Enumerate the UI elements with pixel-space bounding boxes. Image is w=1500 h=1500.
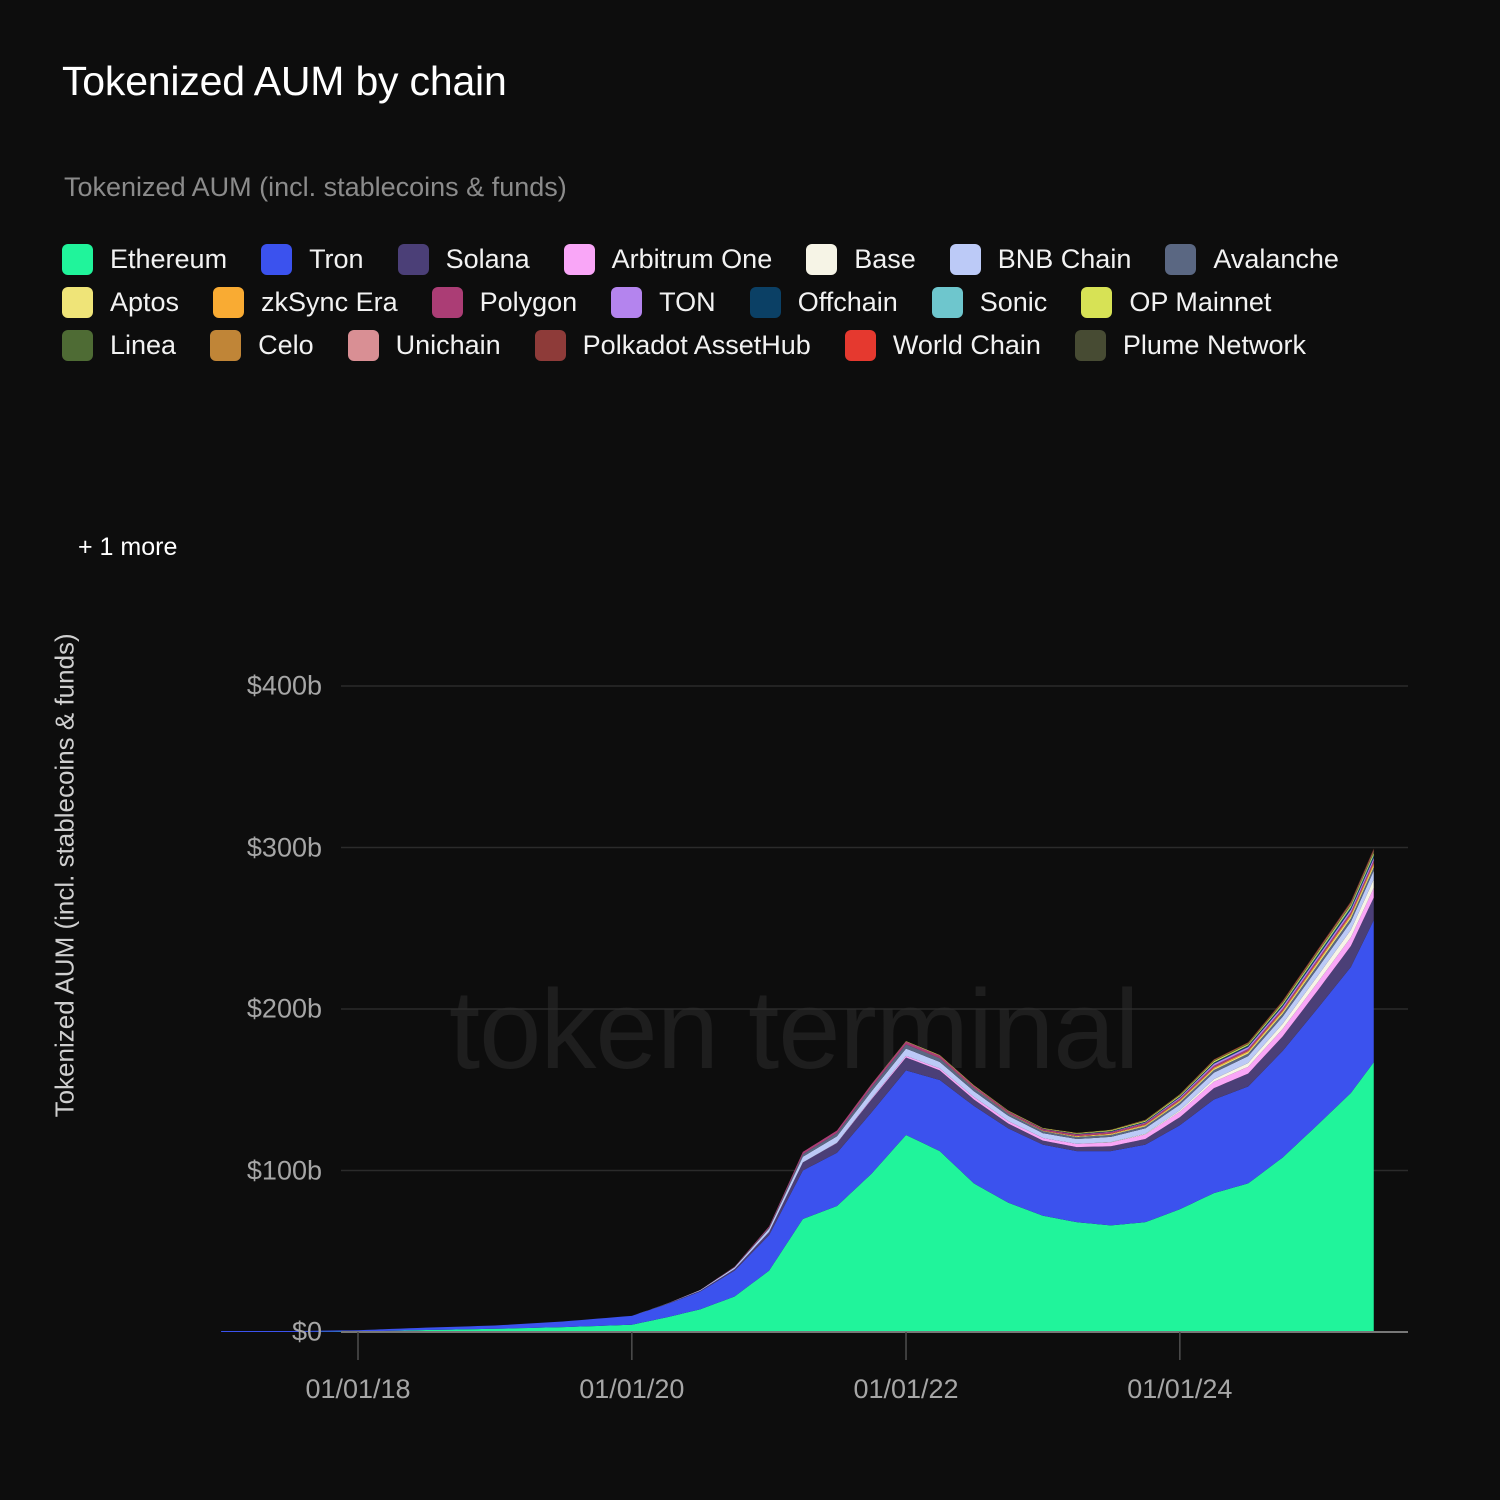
chart-card: Tokenized AUM by chain Tokenized AUM (in…: [0, 0, 1500, 1500]
x-tick-label: 01/01/18: [305, 1374, 410, 1405]
x-tick-label: 01/01/22: [853, 1374, 958, 1405]
y-axis-ticks: $0$100b$200b$300b$400b: [22, 0, 322, 1500]
y-tick-label: $200b: [162, 994, 322, 1025]
axis-lines: [341, 1332, 1408, 1360]
y-tick-label: $300b: [162, 832, 322, 863]
y-tick-label: $400b: [162, 671, 322, 702]
y-tick-label: $0: [162, 1317, 322, 1348]
y-tick-label: $100b: [162, 1155, 322, 1186]
x-tick-label: 01/01/24: [1127, 1374, 1232, 1405]
x-tick-label: 01/01/20: [579, 1374, 684, 1405]
area-series-group: [221, 848, 1374, 1332]
